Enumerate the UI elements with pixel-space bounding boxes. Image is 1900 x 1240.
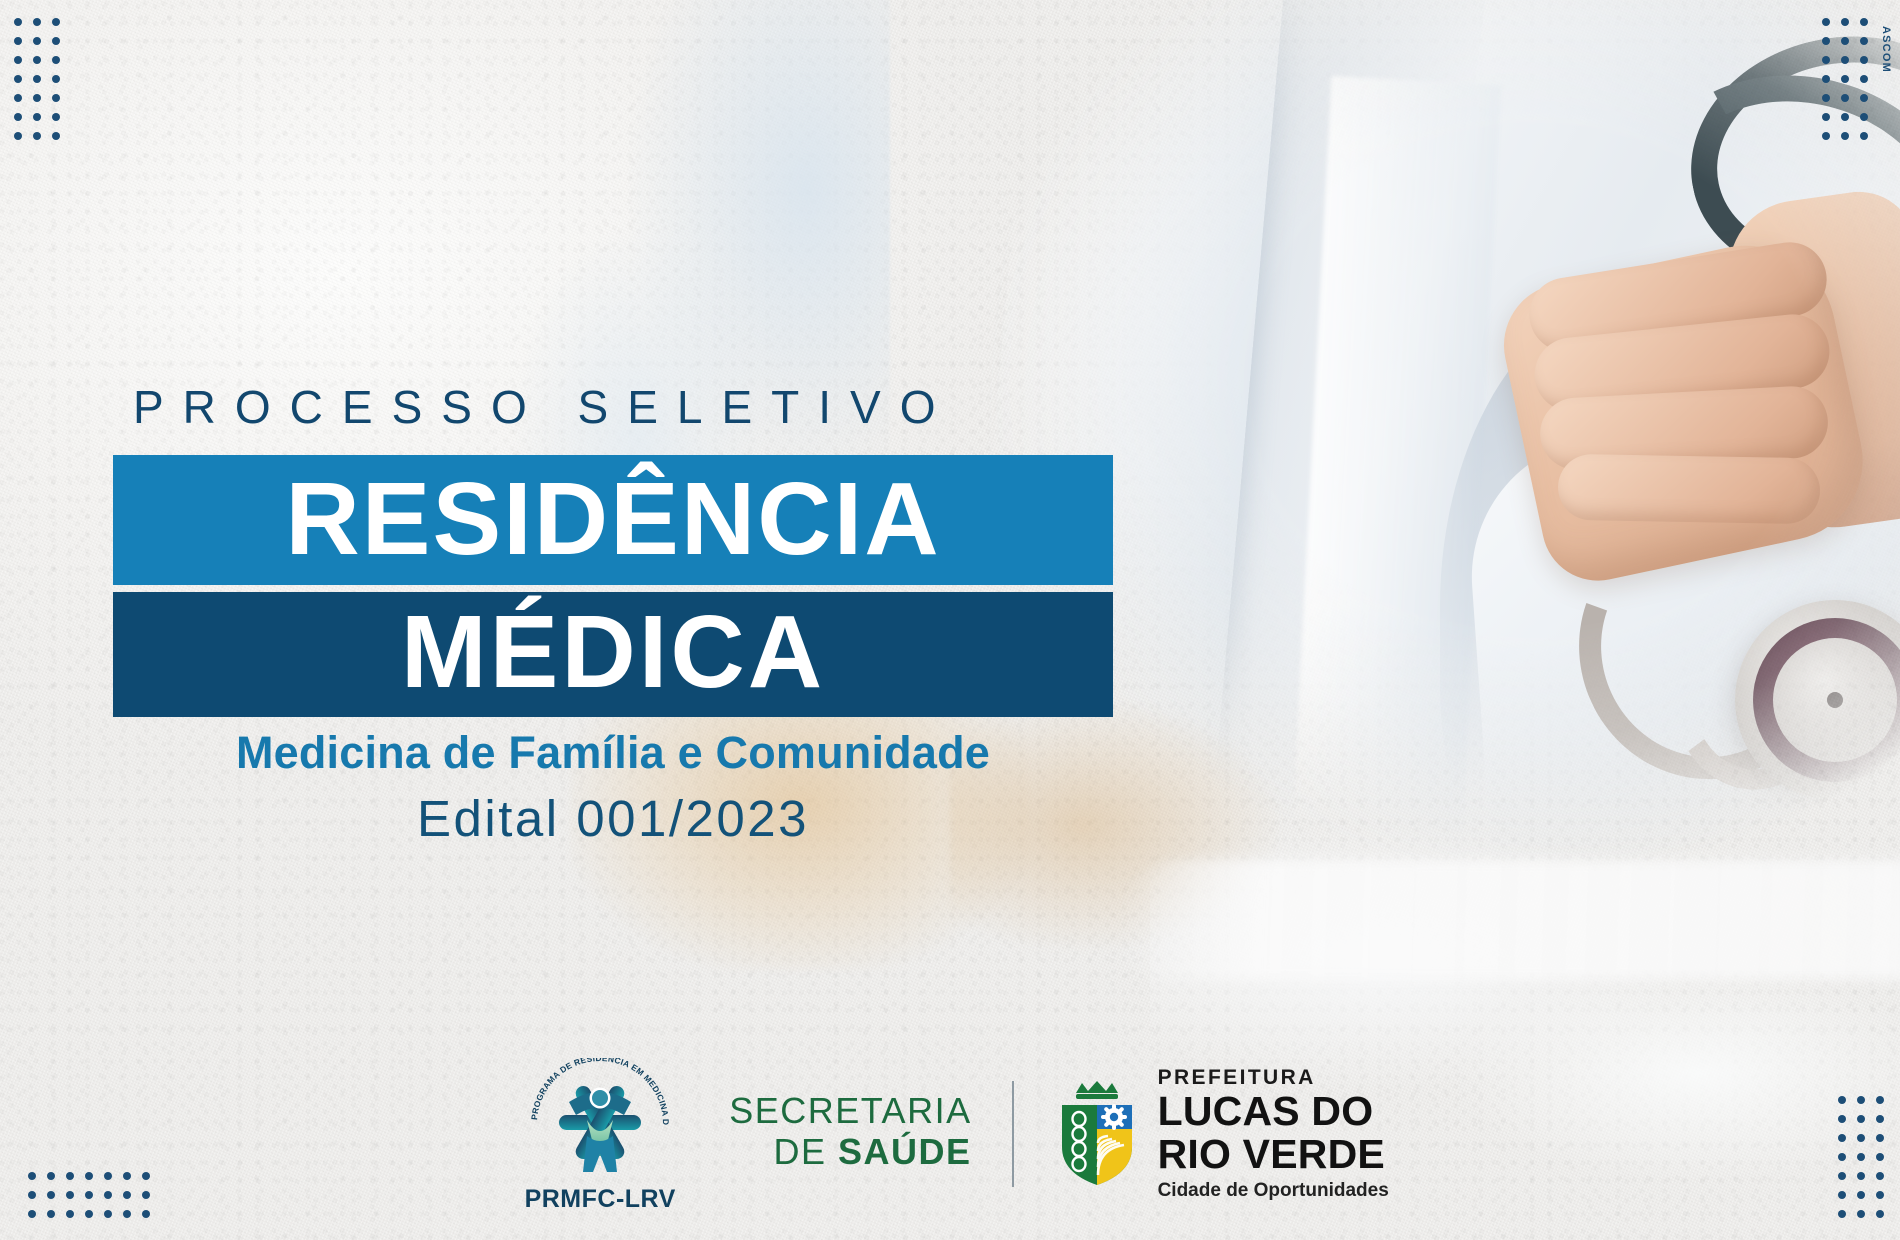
secretaria-saude-logo: SECRETARIA DE SAÚDE — [729, 1090, 971, 1179]
prefeitura-logo: PREFEITURA LUCAS DO RIO VERDE Cidade de … — [1054, 1067, 1389, 1200]
coat-of-arms-icon — [1054, 1079, 1140, 1189]
poster-canvas: ASCOM PROCESSO SELETIVO RESIDÊNCIA MÉDIC… — [0, 0, 1900, 1240]
dot-grid-top-right — [1822, 18, 1868, 140]
dot-grid-top-left — [14, 18, 60, 140]
secretaria-line-2: DE SAÚDE — [729, 1131, 971, 1172]
prmfc-emblem-icon: PROGRAMA DE RESIDÊNCIA EM MEDICINA DE FA… — [525, 1058, 675, 1182]
watercolor-brush-edge — [1120, 860, 1900, 980]
prefeitura-text: PREFEITURA LUCAS DO RIO VERDE Cidade de … — [1158, 1067, 1389, 1200]
kicker-text: PROCESSO SELETIVO — [133, 380, 954, 434]
finger — [1557, 454, 1820, 525]
stethoscope-center-dot — [1827, 692, 1843, 708]
program-subtitle: Medicina de Família e Comunidade — [113, 727, 1113, 779]
title-bar-medica: MÉDICA — [113, 592, 1113, 717]
prmfc-logo: PROGRAMA DE RESIDÊNCIA EM MEDICINA DE FA… — [511, 1058, 689, 1210]
city-name-line-1: LUCAS DO — [1158, 1090, 1389, 1133]
secretaria-saude: SAÚDE — [838, 1131, 972, 1172]
city-name-line-2: RIO VERDE — [1158, 1133, 1389, 1176]
title-line-2: MÉDICA — [401, 600, 825, 703]
city-tagline: Cidade de Oportunidades — [1158, 1181, 1389, 1201]
edital-number: Edital 001/2023 — [113, 789, 1113, 848]
prmfc-acronym: PRMFC-LRV — [511, 1185, 689, 1214]
secretaria-de: DE — [774, 1131, 839, 1172]
ascom-credit: ASCOM — [1880, 26, 1892, 73]
title-line-1: RESIDÊNCIA — [285, 467, 940, 570]
subtitle-block: Medicina de Família e Comunidade Edital … — [113, 727, 1113, 848]
prefeitura-label: PREFEITURA — [1158, 1067, 1389, 1089]
title-bar-residencia: RESIDÊNCIA — [113, 455, 1113, 585]
footer-logos: PROGRAMA DE RESIDÊNCIA EM MEDICINA DE FA… — [0, 1058, 1900, 1210]
secretaria-line-1: SECRETARIA — [729, 1090, 971, 1131]
logo-divider — [1012, 1081, 1014, 1187]
